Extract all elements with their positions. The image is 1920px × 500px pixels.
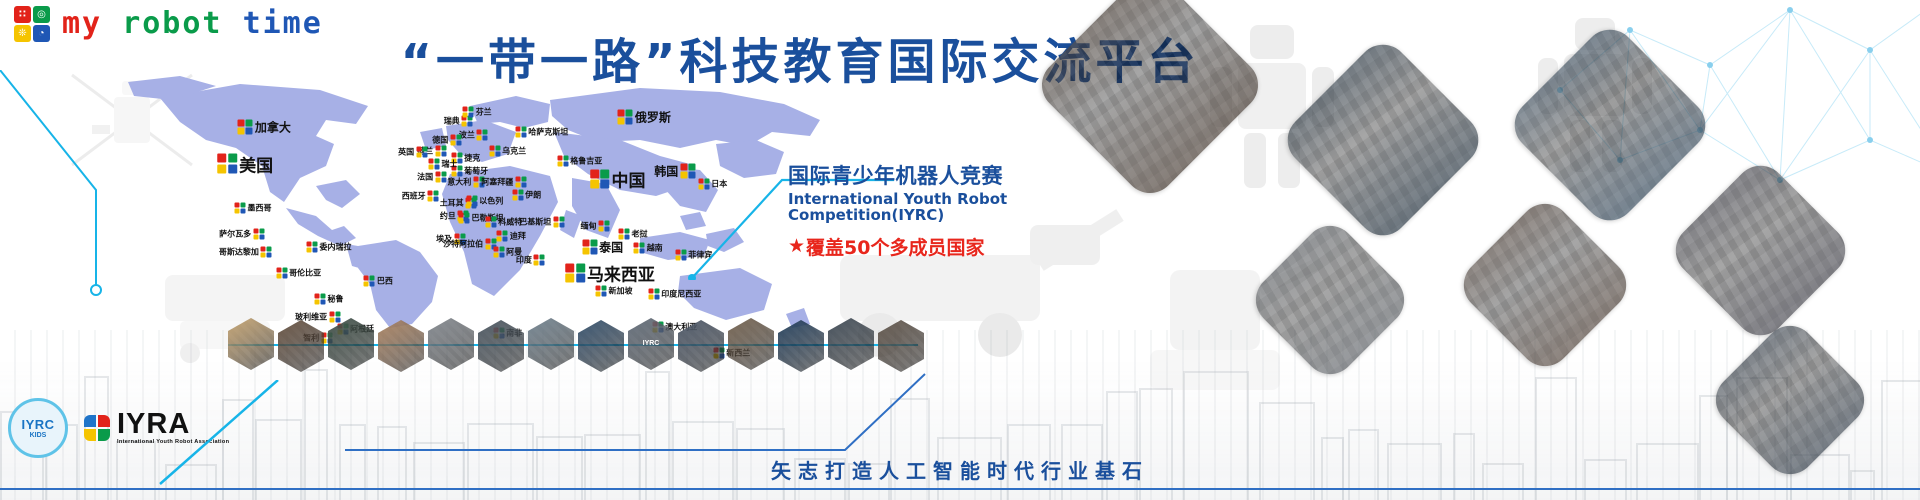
map-pin-label: 印度尼西亚 <box>661 288 701 299</box>
map-pin-label: 哥伦比亚 <box>289 267 321 278</box>
map-pin[interactable]: 以色列 <box>466 196 503 207</box>
country-flag-icon <box>435 171 446 182</box>
map-pin-label: 越南 <box>647 243 663 254</box>
map-pin[interactable]: 西班牙 <box>402 191 439 202</box>
country-flag-icon <box>565 263 585 283</box>
map-pin[interactable]: 泰国 <box>582 238 623 255</box>
photo-tile[interactable] <box>1665 155 1856 346</box>
country-flag-icon <box>497 231 508 242</box>
map-pin-label: 西班牙 <box>402 191 426 202</box>
country-flag-icon <box>512 189 523 200</box>
country-flag-icon <box>450 135 461 146</box>
iyrc-title-en: International Youth Robot Competition(IY… <box>788 192 1058 224</box>
footer-rule-left <box>0 488 990 490</box>
iyrc-coverage-note: ★ 覆盖50个多成员国家 <box>788 233 1058 260</box>
map-pin-label: 法国 <box>417 171 433 182</box>
map-pin-label: 秘鲁 <box>328 293 344 304</box>
country-flag-icon <box>235 202 246 213</box>
iyrc-title-en-line2: Competition(IYRC) <box>788 208 1058 224</box>
map-pin[interactable]: 意大利 <box>447 176 484 187</box>
map-pin-label: 印度 <box>516 254 532 265</box>
brand-wordmark: my robot time <box>62 9 323 39</box>
map-pin[interactable]: 芬兰 <box>463 106 492 117</box>
map-pin[interactable]: 阿塞拜疆 <box>481 176 526 187</box>
country-flag-icon <box>485 217 496 228</box>
cyan-accent-left <box>0 70 120 300</box>
map-pin-label: 日本 <box>711 179 727 190</box>
map-pin-label: 瑞典 <box>444 115 460 126</box>
country-flag-icon <box>489 145 500 156</box>
country-flag-icon <box>416 146 427 157</box>
star-icon: ★ <box>788 235 805 257</box>
map-pin[interactable]: 科威特 <box>485 217 522 228</box>
map-pin-label: 约旦 <box>440 210 456 221</box>
hex-thumbnail[interactable] <box>428 318 474 370</box>
map-pin[interactable]: 俄罗斯 <box>618 108 671 125</box>
map-pin[interactable]: 巴西 <box>364 275 393 286</box>
map-pin-label: 泰国 <box>599 238 623 255</box>
map-pin[interactable]: 墨西哥 <box>235 202 272 213</box>
hex-thumbnail[interactable] <box>828 318 874 370</box>
country-flag-icon <box>253 228 264 239</box>
country-flag-icon <box>315 293 326 304</box>
country-flag-icon <box>582 239 597 254</box>
hex-thumbnail[interactable] <box>228 318 274 370</box>
country-flag-icon <box>634 243 645 254</box>
map-pin-label: 加拿大 <box>255 119 291 136</box>
photo-tile[interactable] <box>1277 34 1489 246</box>
iyrc-badge-abbr: IYRC <box>21 418 54 431</box>
map-pin-label: 芬兰 <box>476 106 492 117</box>
map-pin-label: 韩国 <box>654 163 678 180</box>
hex-thumbnail[interactable] <box>728 318 774 370</box>
country-flag-icon <box>698 179 709 190</box>
hex-thumbnail[interactable] <box>778 320 824 372</box>
map-pin[interactable]: 沙特阿拉伯 <box>443 239 496 250</box>
country-flag-icon <box>428 191 439 202</box>
country-flag-icon <box>364 275 375 286</box>
map-pin[interactable]: 韩国 <box>654 163 695 180</box>
map-pin-label: 俄罗斯 <box>635 108 671 125</box>
country-flag-icon <box>596 286 607 297</box>
cyan-accent-bottom-center <box>285 372 935 462</box>
map-pin-label: 伊朗 <box>525 189 541 200</box>
iyrc-title-cn: 国际青少年机器人竞赛 <box>788 160 1058 190</box>
map-pin[interactable]: 乌克兰 <box>489 145 526 156</box>
country-flag-icon <box>429 158 440 169</box>
map-pin-label: 马来西亚 <box>587 260 655 285</box>
map-pin[interactable]: 哥斯达黎加 <box>219 247 272 258</box>
brand-word-3: time <box>243 6 323 41</box>
map-pin-label: 格鲁吉亚 <box>570 156 602 167</box>
map-pin[interactable]: 菲律宾 <box>675 249 712 260</box>
map-pin[interactable]: 日本 <box>698 179 727 190</box>
map-pin-label: 沙特阿拉伯 <box>443 239 483 250</box>
iyrc-badge-logo: IYRC KIDS <box>8 398 68 458</box>
hex-thumbnail[interactable] <box>378 320 424 372</box>
country-flag-icon <box>534 254 545 265</box>
map-pin-label: 乌克兰 <box>502 145 526 156</box>
hex-thumbnail[interactable] <box>528 318 574 370</box>
country-flag-icon <box>435 145 446 156</box>
map-pin[interactable]: 缅甸 <box>581 221 610 232</box>
hex-thumbnail[interactable] <box>878 320 924 372</box>
map-pin-label: 葡萄牙 <box>464 166 488 177</box>
map-pin[interactable]: 英国 <box>398 146 427 157</box>
hex-thumbnail[interactable] <box>578 320 624 372</box>
country-flag-icon <box>675 249 686 260</box>
map-pin-label: 哈萨克斯坦 <box>528 127 568 138</box>
country-flag-icon <box>276 267 287 278</box>
map-pin[interactable]: 印度尼西亚 <box>648 288 701 299</box>
map-pin-label: 哥斯达黎加 <box>219 247 259 258</box>
map-pin-label: 德国 <box>432 135 448 146</box>
country-flag-icon <box>307 241 318 252</box>
country-flag-icon <box>680 164 695 179</box>
map-pin[interactable]: 哥伦比亚 <box>276 267 321 278</box>
map-pin[interactable]: 加拿大 <box>238 119 291 136</box>
map-pin-label: 阿塞拜疆 <box>481 176 513 187</box>
map-pin-label: 中国 <box>612 167 646 192</box>
country-flag-icon <box>515 176 526 187</box>
map-pin-label: 缅甸 <box>581 221 597 232</box>
iyra-subtitle: International Youth Robot Association <box>117 439 229 445</box>
country-flag-icon <box>463 106 474 117</box>
banner-canvas: ∷◎❊◔ my robot time “一带一路”科技教育国际交流平台 <box>0 0 1920 500</box>
map-pin-label: 瑞士 <box>442 158 458 169</box>
hex-thumbnail[interactable]: IYRC <box>628 318 674 370</box>
hex-thumbnail-strip: IYRC <box>228 318 908 370</box>
map-pin[interactable]: 波兰 <box>459 130 488 141</box>
country-flag-icon <box>590 169 610 189</box>
country-flag-icon <box>618 109 633 124</box>
map-pin-label: 美国 <box>239 151 273 176</box>
hex-thumbnail[interactable] <box>328 318 374 370</box>
hex-thumbnail[interactable] <box>478 320 524 372</box>
map-pin[interactable]: 委内瑞拉 <box>307 241 352 252</box>
photo-image <box>1665 155 1856 346</box>
map-pin[interactable]: 美国 <box>218 151 274 176</box>
iyrc-badge-sub: KIDS <box>30 432 47 439</box>
hex-thumbnail[interactable] <box>678 320 724 372</box>
iyra-wordmark: IYRA International Youth Robot Associati… <box>117 411 229 445</box>
map-pin-label: 迪拜 <box>510 231 526 242</box>
photo-image <box>1277 34 1489 246</box>
map-pin-label: 委内瑞拉 <box>320 241 352 252</box>
photo-image <box>1245 215 1415 385</box>
map-pin-label: 萨尔瓦多 <box>219 228 251 239</box>
world-map: 加拿大美国墨西哥萨尔瓦多哥斯达黎加委内瑞拉哥伦比亚巴西秘鲁玻利维亚阿根廷智利瑞典… <box>120 70 880 330</box>
map-pin[interactable]: 法国 <box>417 171 446 182</box>
map-pin[interactable]: 越南 <box>634 243 663 254</box>
hex-thumbnail[interactable] <box>278 320 324 372</box>
country-flag-icon <box>238 120 253 135</box>
country-flag-icon <box>599 221 610 232</box>
iyra-mark-icon <box>84 415 110 441</box>
footer-logo-group: IYRC KIDS IYRA International Youth Robot… <box>8 398 229 458</box>
country-flag-icon <box>477 130 488 141</box>
brand-logo: ∷◎❊◔ my robot time <box>14 6 323 42</box>
country-flag-icon <box>459 213 470 224</box>
country-flag-icon <box>218 154 238 174</box>
iyra-abbr: IYRA <box>117 411 229 439</box>
map-pin[interactable]: 中国 <box>590 167 646 192</box>
map-pin[interactable]: 秘鲁 <box>315 293 344 304</box>
brand-word-2: robot <box>122 6 222 41</box>
country-flag-icon <box>553 217 564 228</box>
photo-image <box>1504 19 1716 231</box>
footer-rule-right <box>990 488 1920 490</box>
hex-thumbnail-label: IYRC <box>643 340 660 348</box>
map-pin-label: 菲律宾 <box>688 249 712 260</box>
map-pin-label: 新加坡 <box>609 286 633 297</box>
map-pin[interactable]: 瑞士 <box>429 158 458 169</box>
map-pin[interactable]: 马来西亚 <box>565 260 655 285</box>
map-pin[interactable]: 迪拜 <box>497 231 526 242</box>
country-flag-icon <box>557 156 568 167</box>
iyra-logo: IYRA International Youth Robot Associati… <box>84 411 229 445</box>
map-pin-label: 老挝 <box>632 228 648 239</box>
map-pin-label: 墨西哥 <box>248 202 272 213</box>
photo-tile[interactable] <box>1504 19 1716 231</box>
photo-tile[interactable] <box>1245 215 1415 385</box>
map-pin-label: 捷克 <box>464 153 480 164</box>
map-pin-label: 巴基斯坦 <box>519 217 551 228</box>
country-flag-icon <box>261 247 272 258</box>
country-flag-icon <box>466 196 477 207</box>
country-flag-icon <box>493 247 504 258</box>
map-pin-label: 巴西 <box>377 275 393 286</box>
map-pin[interactable]: 萨尔瓦多 <box>219 228 264 239</box>
map-pin[interactable]: 印度 <box>516 254 545 265</box>
map-pin-label: 意大利 <box>447 176 471 187</box>
map-pin[interactable]: 巴基斯坦 <box>519 217 564 228</box>
map-pin-label: 以色列 <box>479 196 503 207</box>
map-pin-label: 土耳其 <box>440 197 464 208</box>
country-flag-icon <box>515 127 526 138</box>
brand-mark-icon: ∷◎❊◔ <box>14 6 50 42</box>
iyrc-coverage-text: 覆盖50个多成员国家 <box>806 233 984 260</box>
map-pin[interactable]: 新加坡 <box>596 286 633 297</box>
iyrc-callout: 国际青少年机器人竞赛 International Youth Robot Com… <box>788 160 1058 260</box>
map-pin[interactable]: 伊朗 <box>512 189 541 200</box>
map-pin-label: 英国 <box>398 146 414 157</box>
brand-word-1: my <box>62 6 102 41</box>
map-pin[interactable]: 格鲁吉亚 <box>557 156 602 167</box>
footer-slogan: 矢志打造人工智能时代行业基石 <box>0 455 1920 484</box>
country-flag-icon <box>648 288 659 299</box>
map-pin[interactable]: 哈萨克斯坦 <box>515 127 568 138</box>
map-pin[interactable]: 德国 <box>432 135 461 146</box>
